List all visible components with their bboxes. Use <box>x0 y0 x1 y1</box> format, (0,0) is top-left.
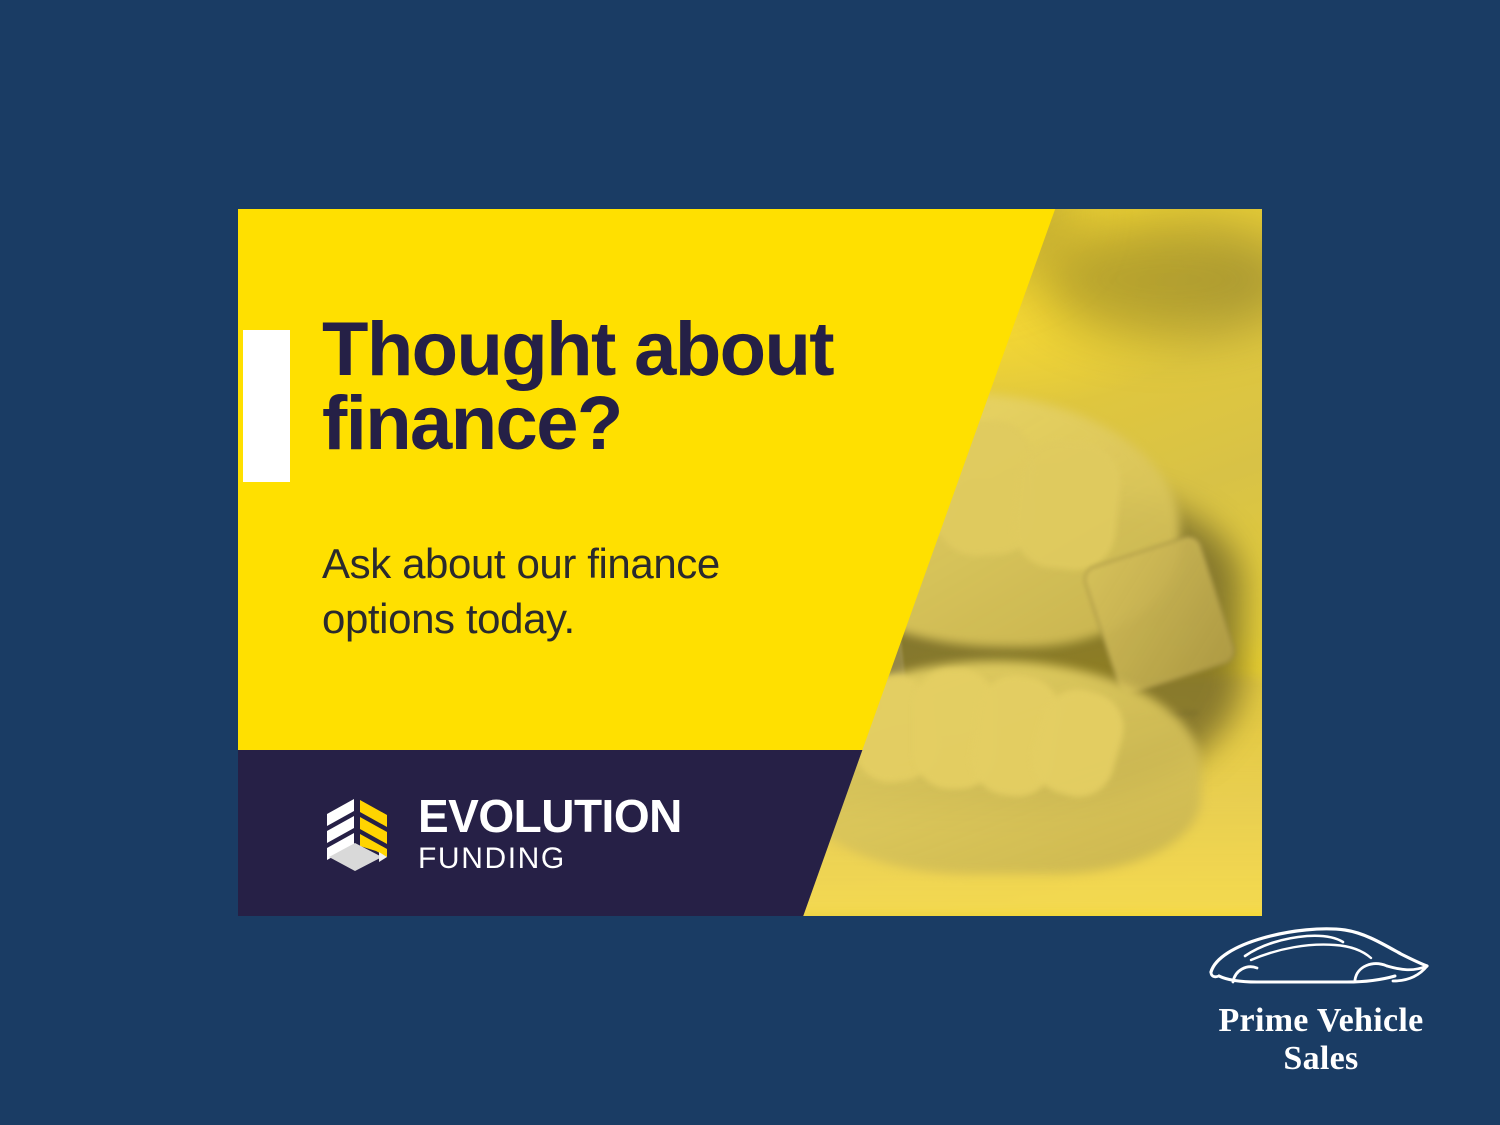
promo-subheadline: Ask about our finance options today. <box>322 536 922 647</box>
finance-promo-card: Thought about finance? Ask about our fin… <box>238 209 1262 916</box>
evolution-funding-wordmark: EVOLUTION FUNDING <box>418 793 682 874</box>
brand-subname: FUNDING <box>418 844 682 874</box>
evolution-cube-mark-icon <box>324 794 398 874</box>
brand-name: EVOLUTION <box>418 793 682 839</box>
car-silhouette-icon <box>1196 918 1446 1000</box>
dealer-name: Prime Vehicle Sales <box>1196 1002 1446 1078</box>
promo-headline: Thought about finance? <box>322 313 962 460</box>
evolution-funding-logo: EVOLUTION FUNDING <box>324 793 682 874</box>
poster-canvas: Thought about finance? Ask about our fin… <box>0 0 1500 1125</box>
prime-vehicle-sales-logo: Prime Vehicle Sales <box>1196 918 1446 1078</box>
headline-accent-bar <box>243 330 290 482</box>
